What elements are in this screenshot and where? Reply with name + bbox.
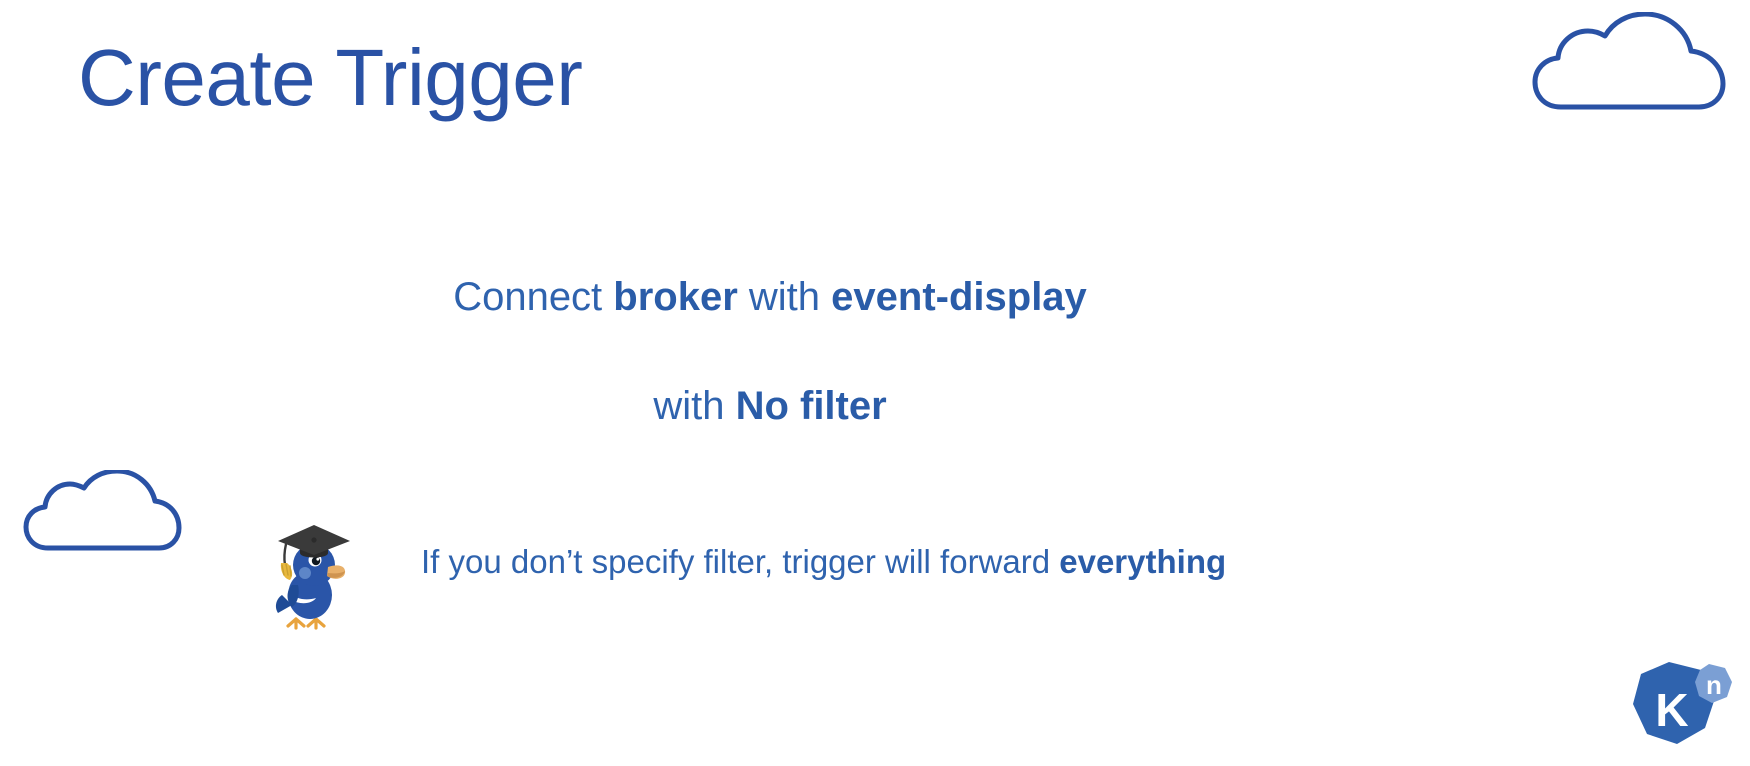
line1-bold-event-display: event-display bbox=[831, 275, 1087, 319]
knative-logo-n: n bbox=[1706, 670, 1722, 700]
line3-bold-everything: everything bbox=[1059, 543, 1226, 580]
line2-bold-no-filter: No filter bbox=[736, 384, 887, 428]
line3-text-part1: If you don’t specify filter, trigger wil… bbox=[421, 543, 1059, 580]
body-line-2: with No filter bbox=[0, 384, 1750, 429]
line1-text-part1: Connect bbox=[453, 275, 613, 319]
cloud-outline-icon bbox=[22, 470, 182, 562]
cloud-outline-icon bbox=[1531, 12, 1731, 127]
body-line-3: If you don’t specify filter, trigger wil… bbox=[421, 543, 1226, 581]
knative-logo: K n bbox=[1629, 656, 1737, 760]
line1-text-part2: with bbox=[738, 275, 831, 319]
page-title: Create Trigger bbox=[78, 38, 582, 118]
line2-text-part1: with bbox=[653, 384, 735, 428]
knative-logo-k: K bbox=[1655, 684, 1688, 736]
body-line-1: Connect broker with event-display bbox=[0, 275, 1750, 320]
line1-bold-broker: broker bbox=[613, 275, 738, 319]
graduate-bird-mascot-icon bbox=[272, 503, 352, 631]
